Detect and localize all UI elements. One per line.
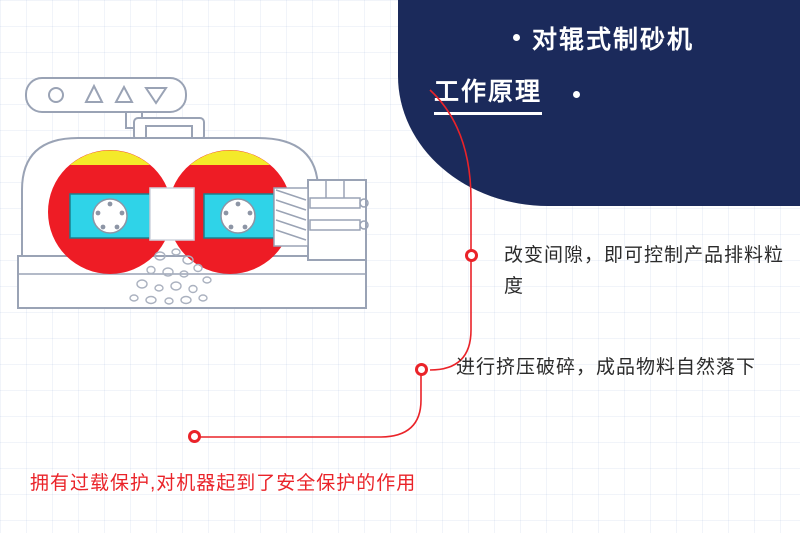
- roller-gap: [150, 188, 194, 240]
- callout-text-2: 进行挤压破碎，成品物料自然落下: [456, 352, 786, 383]
- callout-node-1: [465, 249, 478, 262]
- infographic-page: 对辊式制砂机 工作原理: [0, 0, 800, 533]
- page-title-line2: 工作原理: [434, 72, 542, 115]
- callout-node-3: [188, 430, 201, 443]
- callout-text-3: 拥有过载保护,对机器起到了安全保护的作用: [30, 468, 550, 499]
- title-bullet-dot-1: [513, 34, 520, 41]
- title-bullet-dot-2: [573, 91, 580, 98]
- screen-deck: [26, 78, 186, 112]
- callout-text-1: 改变间隙，即可控制产品排料粒度: [504, 240, 794, 302]
- page-title-line1: 对辊式制砂机: [532, 20, 694, 56]
- callout-node-2: [415, 363, 428, 376]
- feed-hopper: [126, 112, 204, 140]
- machine-diagram: [8, 60, 408, 330]
